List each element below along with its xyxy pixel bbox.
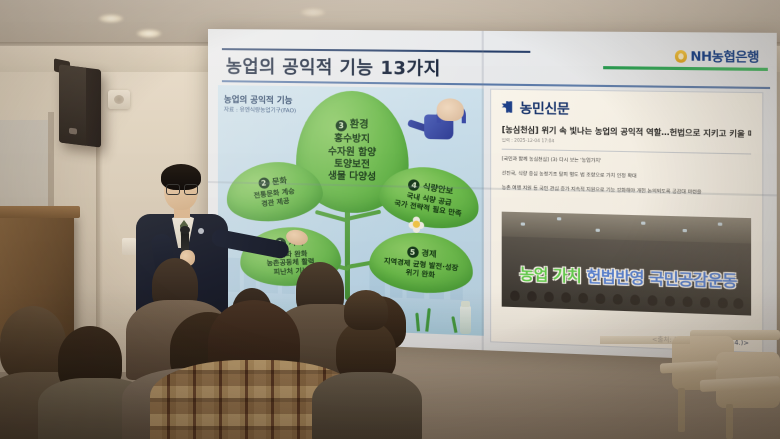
nh-acorn-icon [675,50,687,63]
wall-speaker-icon [59,64,101,147]
speaker-logo [69,128,77,135]
lectern-top [0,206,80,218]
presenter-badge [198,228,204,234]
watering-can-icon [416,106,462,142]
hand-icon [437,98,464,121]
infographic-source: 자료 : 유엔식량농업기구(FAO) [224,105,296,114]
rally-photo: 농업 가치 헌법반영 국민공감운동 [502,212,751,316]
leaf-title: 환경 [350,120,369,132]
nh-logo-text: NH농협은행 [690,47,758,66]
banner-text-green: 농업 가치 [519,265,581,286]
microphone-head [180,226,190,234]
banner-text-blue: 헌법반영 국민공감운동 [586,267,736,291]
leaf-number: 4 [408,179,421,192]
leaf-line: 경관 제공 [261,196,290,207]
audience-head [0,306,66,380]
leaf-line: 홍수방지 [334,133,370,146]
newspaper-clipping: 농민신문 [농심천심] 위기 속 빛나는 농업의 공익적 역할…헌법으로 지키고… [490,89,763,354]
audience-head [344,290,388,330]
flower-icon [409,216,425,232]
newspaper-body-line: 선진국, 식량 중심 농정기조 탈피 별도 법 조항으로 가치 인정 확대 [502,170,751,185]
infographic-caption: 농업의 공익적 기능 [224,93,293,106]
leaf-line: 수자원 함양 [328,146,376,160]
nh-bank-logo: NH농협은행 [675,47,759,66]
leaf-number: 2 [258,177,270,189]
wall-outlet-plate [108,90,130,109]
newspaper-divider [502,149,751,155]
downlight-icon [136,29,162,38]
newspaper-body-line: 농촌 여행 지원 등 국민 관심 증가 지속적 지원으로 기능 강화해야 개헌 … [502,185,751,200]
bottle-cap [461,301,470,307]
title-rule [222,48,530,53]
seat-row [600,336,690,344]
leaf-heading: 3 환경 [335,120,368,133]
leaf-line: 토양보전 [334,159,370,172]
slide-title: 농업의 공익적 기능 13가지 [226,53,441,81]
nongmin-logo-icon [502,101,516,113]
logo-green-bar [603,66,768,71]
leaf-title: 경제 [421,248,437,259]
leaf-number: 5 [406,246,418,258]
audience-body [312,372,422,439]
leaf-number: 3 [335,120,346,131]
leaf-line: 생물 다양성 [328,171,376,185]
newspaper-body-line: [국민과 함께 농심천심] (3) 다시 보는 '농업가치' [502,156,751,170]
leaf-line: 위기 완화 [405,268,435,279]
leaf-title: 문화 [272,176,288,187]
downlight-icon [98,14,124,23]
chair-leg [726,404,733,439]
eyeglasses-icon [166,184,196,193]
downlight-icon [300,8,326,17]
water-bottle[interactable] [460,306,471,334]
screenshot-root: 농업의 공익적 기능 13가지 NH농협은행 [0,0,780,439]
leaf-heading: 2 문화 [258,175,288,189]
newspaper-masthead: 농민신문 [502,97,763,121]
newspaper-body: [국민과 함께 농심천심] (3) 다시 보는 '농업가치' 선진국, 식량 중… [502,156,751,200]
chair-leg [678,388,685,432]
newspaper-brand: 농민신문 [520,97,570,117]
leaf-heading: 5 경제 [406,246,437,260]
